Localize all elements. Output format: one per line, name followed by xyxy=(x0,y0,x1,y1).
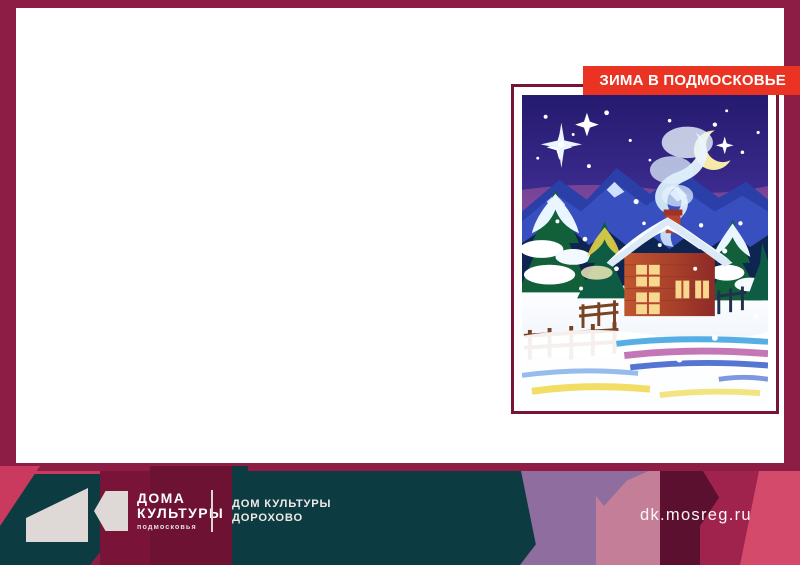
artwork-frame xyxy=(511,84,779,414)
campaign-ribbon: ЗИМА В ПОДМОСКОВЬЕ xyxy=(583,66,800,95)
poster-root: АДМИНИСТРАЦИЯ РУЗСКОГО МУНИЦИПАЛЬНОГО ОК… xyxy=(0,0,800,565)
campaign-ribbon-label: ЗИМА В ПОДМОСКОВЬЕ xyxy=(599,72,786,89)
footer-band xyxy=(0,466,800,565)
winter-landscape-illustration xyxy=(522,95,768,403)
footer-geometric-pattern xyxy=(0,466,800,565)
artwork-winter-landscape xyxy=(522,95,768,403)
